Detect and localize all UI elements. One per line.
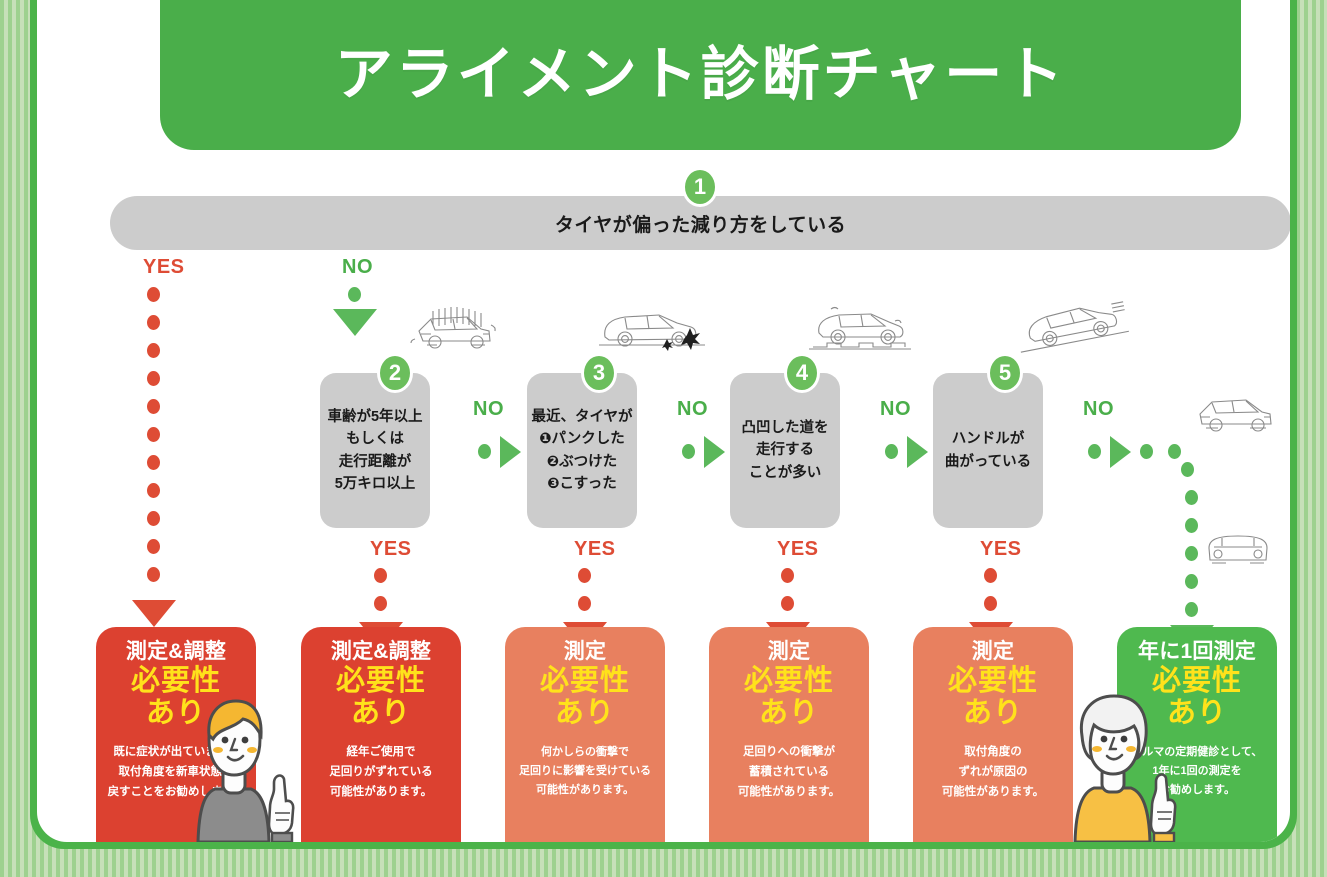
- path-dot: [147, 567, 160, 582]
- header-banner: アライメント診断チャート: [160, 0, 1241, 150]
- step-badge-3: 3: [581, 353, 617, 393]
- path-dot: [374, 568, 387, 583]
- striped-green-frame: アライメント診断チャート: [0, 0, 1327, 877]
- result-5-desc-line: 可能性があります。: [920, 783, 1066, 803]
- result-6-head: 年に1回測定: [1117, 640, 1277, 665]
- result-5-desc-line: 取付角度の: [920, 743, 1066, 763]
- car-bumpy-road-icon: [805, 303, 915, 353]
- path-dot: [578, 596, 591, 611]
- car-front-view-icon: [1202, 530, 1274, 572]
- path-dot: [984, 596, 997, 611]
- question-3-line: ❷ぶつけた: [547, 451, 617, 473]
- result-2-desc-line: 可能性があります。: [308, 783, 454, 803]
- path-dot: [147, 399, 160, 414]
- question-2-line: 走行距離が: [339, 451, 412, 473]
- no-label-5: NO: [1083, 398, 1114, 421]
- result-3-desc-line: 可能性があります。: [508, 781, 662, 800]
- result-4-desc: 足回りへの衝撃が 蓄積されている 可能性があります。: [709, 743, 869, 802]
- result-4-desc-line: 可能性があります。: [716, 783, 862, 803]
- result-4-desc-line: 蓄積されている: [716, 763, 862, 783]
- path-dot: [682, 444, 695, 459]
- arrow-right-green: [1110, 436, 1131, 468]
- path-dot: [1088, 444, 1101, 459]
- question-3-line: ❶パンクした: [539, 428, 625, 450]
- result-2-desc-line: 足回りがずれている: [308, 763, 454, 783]
- question-3-line: ❸こすった: [547, 473, 616, 495]
- question-4-line: ことが多い: [749, 462, 822, 484]
- result-3-desc: 何かしらの衝撃で 足回りに影響を受けている 可能性があります。: [505, 743, 665, 800]
- path-dot: [147, 287, 160, 302]
- yes-label-2: YES: [370, 538, 412, 561]
- path-dot: [781, 596, 794, 611]
- result-2-big-1: 必要性: [301, 666, 461, 697]
- result-5-big-1: 必要性: [913, 666, 1073, 697]
- car-tire-impact-icon: [595, 303, 710, 353]
- question-box-3[interactable]: 最近、タイヤが ❶パンクした ❷ぶつけた ❸こすった: [527, 373, 637, 528]
- step-badge-2: 2: [377, 353, 413, 393]
- result-2-big-2: あり: [301, 698, 461, 729]
- car-slope-icon: [1015, 298, 1130, 356]
- path-dot: [147, 483, 160, 498]
- path-dot: [578, 568, 591, 583]
- result-5-big-2: あり: [913, 698, 1073, 729]
- step-badge-5: 5: [987, 353, 1023, 393]
- yes-label-1: YES: [143, 256, 185, 279]
- path-dot: [147, 427, 160, 442]
- path-dot: [1185, 518, 1198, 533]
- step-badge-4: 4: [784, 353, 820, 393]
- path-dot: [478, 444, 491, 459]
- result-4-head: 測定: [709, 640, 869, 665]
- question-box-4[interactable]: 凸凹した道を 走行する ことが多い: [730, 373, 840, 528]
- arrow-right-green: [704, 436, 725, 468]
- path-dot: [147, 343, 160, 358]
- no-label-1: NO: [342, 256, 373, 279]
- no-label-2: NO: [473, 398, 504, 421]
- result-4-big-1: 必要性: [709, 666, 869, 697]
- result-card-3[interactable]: 測定 必要性 あり 何かしらの衝撃で 足回りに影響を受けている 可能性があります…: [505, 627, 665, 842]
- man-pointing-illustration: [187, 697, 297, 842]
- result-card-5[interactable]: 測定 必要性 あり 取付角度の ずれが原因の 可能性があります。: [913, 627, 1073, 842]
- path-dot: [147, 371, 160, 386]
- path-dot: [1181, 462, 1194, 477]
- result-3-big-1: 必要性: [505, 666, 665, 697]
- arrow-right-green: [907, 436, 928, 468]
- path-dot: [1185, 602, 1198, 617]
- page-title: アライメント診断チャート: [160, 27, 1241, 111]
- result-3-head: 測定: [505, 640, 665, 665]
- result-1-head: 測定&調整: [96, 640, 256, 665]
- path-dot: [147, 455, 160, 470]
- path-dot: [984, 568, 997, 583]
- result-card-4[interactable]: 測定 必要性 あり 足回りへの衝撃が 蓄積されている 可能性があります。: [709, 627, 869, 842]
- arrow-right-green: [500, 436, 521, 468]
- yes-label-3: YES: [574, 538, 616, 561]
- result-4-big-2: あり: [709, 698, 869, 729]
- question-4-line: 走行する: [756, 439, 814, 461]
- path-dot: [781, 568, 794, 583]
- question-5-line: ハンドルが: [952, 428, 1025, 450]
- result-5-desc: 取付角度の ずれが原因の 可能性があります。: [913, 743, 1073, 802]
- question-1-text: タイヤが偏った減り方をしている: [555, 210, 846, 237]
- no-label-4: NO: [880, 398, 911, 421]
- result-5-desc-line: ずれが原因の: [920, 763, 1066, 783]
- result-4-desc-line: 足回りへの衝撃が: [716, 743, 862, 763]
- question-box-2[interactable]: 車齢が5年以上 もしくは 走行距離が 5万キロ以上: [320, 373, 430, 528]
- car-three-quarter-icon: [1192, 390, 1280, 438]
- path-dot: [147, 539, 160, 554]
- result-5-head: 測定: [913, 640, 1073, 665]
- yes-label-4: YES: [777, 538, 819, 561]
- path-dot: [1140, 444, 1153, 459]
- result-card-2[interactable]: 測定&調整 必要性 あり 経年ご使用で 足回りがずれている 可能性があります。: [301, 627, 461, 842]
- question-3-line: 最近、タイヤが: [531, 406, 632, 428]
- result-2-desc: 経年ご使用で 足回りがずれている 可能性があります。: [301, 743, 461, 802]
- step-badge-1: 1: [682, 167, 718, 207]
- question-2-line: 5万キロ以上: [335, 473, 416, 495]
- arrow-down-green: [333, 309, 377, 336]
- question-5-line: 曲がっている: [945, 451, 1031, 473]
- question-2-line: 車齢が5年以上: [327, 406, 422, 428]
- no-label-3: NO: [677, 398, 708, 421]
- result-3-desc-line: 足回りに影響を受けている: [508, 762, 662, 781]
- path-dot: [348, 287, 361, 302]
- path-dot: [1185, 490, 1198, 505]
- question-2-line: もしくは: [346, 428, 404, 450]
- result-1-big-1: 必要性: [96, 666, 256, 697]
- path-dot: [147, 315, 160, 330]
- car-front-angle-icon: [405, 303, 505, 353]
- question-box-5[interactable]: ハンドルが 曲がっている: [933, 373, 1043, 528]
- path-dot: [1185, 574, 1198, 589]
- path-dot: [1168, 444, 1181, 459]
- path-dot: [885, 444, 898, 459]
- path-dot: [147, 511, 160, 526]
- result-2-desc-line: 経年ご使用で: [308, 743, 454, 763]
- result-3-desc-line: 何かしらの衝撃で: [508, 743, 662, 762]
- chart-canvas: アライメント診断チャート: [37, 0, 1290, 842]
- result-2-head: 測定&調整: [301, 640, 461, 665]
- arrow-down-red: [132, 600, 176, 627]
- yes-label-5: YES: [980, 538, 1022, 561]
- path-dot: [374, 596, 387, 611]
- result-3-big-2: あり: [505, 698, 665, 729]
- woman-pointing-illustration: [1064, 692, 1182, 842]
- path-dot: [1185, 546, 1198, 561]
- question-4-line: 凸凹した道を: [742, 417, 829, 439]
